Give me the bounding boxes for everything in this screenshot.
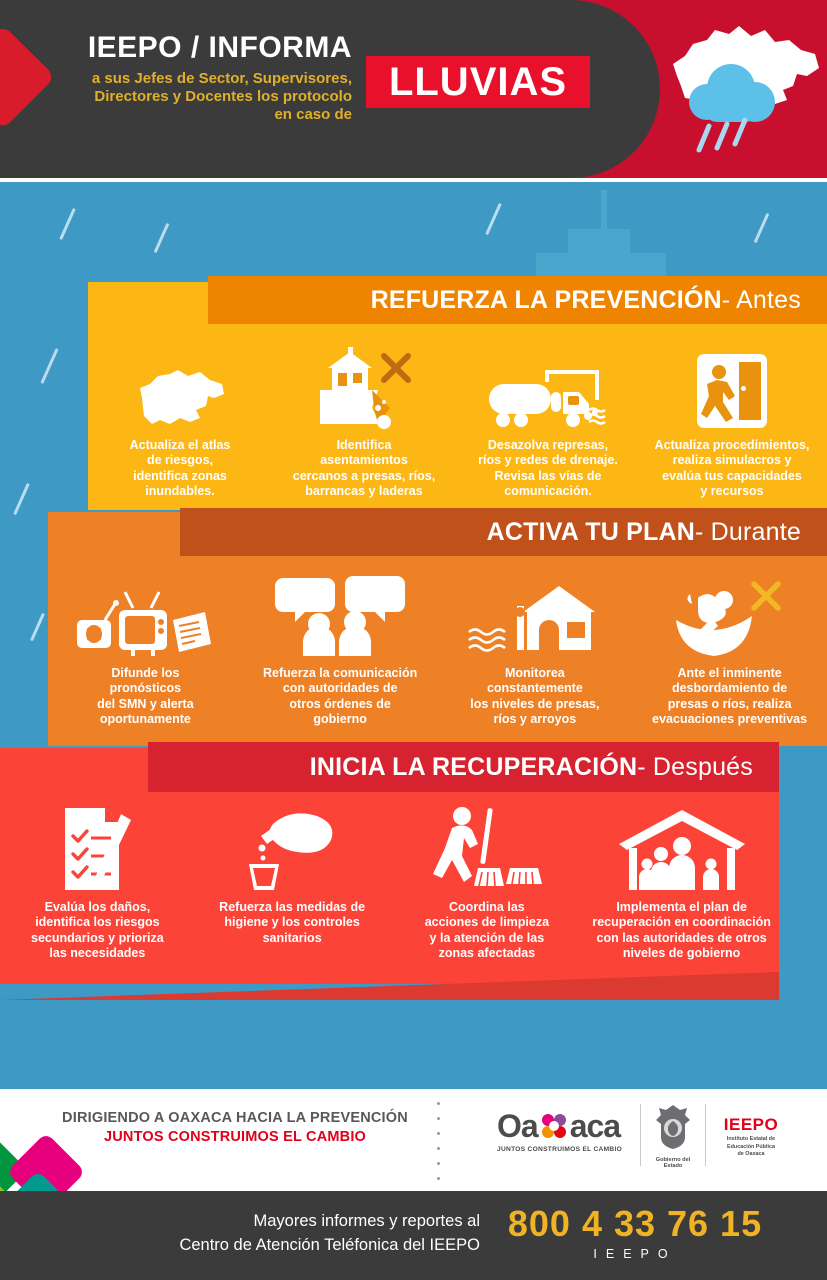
footer-contact-text: Mayores informes y reportes al Centro de… — [150, 1210, 480, 1258]
house-on-cliff-crossed-out-icon — [278, 344, 450, 430]
building-tower-decoration — [601, 190, 607, 230]
brand-subtitle: a sus Jefes de Sector, Supervisores, Dir… — [62, 70, 352, 125]
card-durante-1: Difunde los pronósticos del SMN y alerta… — [48, 572, 243, 727]
escudo-caption: Gobierno del Estado — [650, 1157, 696, 1169]
section-subtitle-antes: - Antes — [722, 286, 801, 315]
brand-title: IEEPO / INFORMA — [62, 32, 352, 64]
raindrop — [754, 213, 770, 243]
card-caption: Implementa el plan de recuperación en co… — [590, 900, 773, 961]
ieepo-wordmark: IEEPO — [712, 1116, 790, 1133]
card-despues-4: Implementa el plan de recuperación en co… — [584, 806, 779, 961]
oaxaca-map-icon — [94, 344, 266, 430]
card-caption: Refuerza las medidas de higiene y los co… — [201, 900, 384, 946]
section-header-despues: INICIA LA RECUPERACIÓN - Después — [148, 742, 779, 792]
header-banner: IEEPO / INFORMA a sus Jefes de Sector, S… — [0, 0, 827, 178]
card-despues-1: Evalúa los daños, identifica los riesgos… — [0, 806, 195, 961]
tanker-truck-drainage-icon — [462, 344, 634, 430]
footer-phone-number[interactable]: 800 4 33 76 15 — [500, 1206, 770, 1242]
logo-divider-left — [640, 1104, 641, 1166]
footer-contact-line-1: Mayores informes y reportes al — [150, 1210, 480, 1234]
card-caption: Monitorea constantemente los niveles de … — [444, 666, 627, 727]
oaxaca-word-part-2: aca — [570, 1110, 620, 1142]
card-durante-4: Ante el inminente desbordamiento de pres… — [632, 572, 827, 727]
emergency-exit-drill-icon — [646, 344, 818, 430]
raindrop — [40, 348, 58, 384]
brand-subtitle-line-3: en caso de — [62, 106, 352, 124]
oaxaca-x-petals-icon — [539, 1111, 569, 1141]
family-under-roof-icon — [590, 806, 773, 892]
oaxaca-word-part-1: Oa — [497, 1110, 538, 1142]
raindrop — [13, 483, 30, 515]
section-header-durante: ACTIVA TU PLAN - Durante — [180, 508, 827, 556]
brand-block: IEEPO / INFORMA a sus Jefes de Sector, S… — [62, 32, 352, 124]
section-title-durante: ACTIVA TU PLAN — [487, 518, 695, 547]
ieepo-logo-subtitle: Instituto Estatal de Educación Pública d… — [712, 1136, 790, 1159]
raindrop — [59, 208, 76, 240]
lluvias-badge: LLUVIAS — [366, 56, 590, 108]
card-despues-2: Refuerza las medidas de higiene y los co… — [195, 806, 390, 946]
cards-antes: Actualiza el atlas de riesgos, identific… — [88, 344, 827, 514]
raindrop — [154, 223, 170, 253]
house-with-rising-water-icon — [444, 572, 627, 658]
card-antes-3: Desazolva represas, ríos y redes de dren… — [456, 344, 640, 499]
footer-phone-mnemonic: IEEPO — [500, 1247, 770, 1261]
card-caption: Ante el inminente desbordamiento de pres… — [638, 666, 821, 727]
card-antes-2: Identifica asentamientos cercanos a pres… — [272, 344, 456, 499]
card-caption: Actualiza el atlas de riesgos, identific… — [94, 438, 266, 499]
two-people-talking-icon — [249, 572, 432, 658]
card-caption: Actualiza procedimientos, realiza simula… — [646, 438, 818, 499]
ieepo-logo: IEEPO Instituto Estatal de Educación Púb… — [712, 1116, 790, 1159]
card-caption: Refuerza la comunicación con autoridades… — [249, 666, 432, 727]
person-swept-by-flood-crossed-out-icon — [638, 572, 821, 658]
slogan-block: DIRIGIENDO A OAXACA HACIA LA PREVENCIÓN … — [50, 1110, 420, 1145]
card-caption: Evalúa los daños, identifica los riesgos… — [6, 900, 189, 961]
card-caption: Coordina las acciones de limpieza y la a… — [396, 900, 579, 961]
water-purification-drops-icon — [201, 806, 384, 892]
gobierno-del-estado-logo: Gobierno del Estado — [650, 1104, 696, 1169]
section-title-despues: INICIA LA RECUPERACIÓN — [310, 753, 638, 782]
infographic-page: IEEPO / INFORMA a sus Jefes de Sector, S… — [0, 0, 827, 1280]
person-sweeping-icon — [396, 806, 579, 892]
escudo-oaxaca-icon — [653, 1104, 693, 1150]
card-despues-3: Coordina las acciones de limpieza y la a… — [390, 806, 585, 961]
oaxaca-map-with-rain-cloud-icon — [655, 16, 827, 166]
card-durante-2: Refuerza la comunicación con autoridades… — [243, 572, 438, 727]
cards-durante: Difunde los pronósticos del SMN y alerta… — [48, 572, 827, 747]
card-antes-4: Actualiza procedimientos, realiza simula… — [640, 344, 824, 499]
cards-despues: Evalúa los daños, identifica los riesgos… — [0, 806, 779, 986]
oaxaca-logo: Oa aca JUNTOS CONSTRUIMOS EL CAMBIO — [497, 1110, 622, 1153]
dotted-separator — [437, 1102, 441, 1176]
card-antes-1: Actualiza el atlas de riesgos, identific… — [88, 344, 272, 499]
section-subtitle-durante: - Durante — [695, 518, 801, 547]
footer-contact-line-2: Centro de Atención Teléfonica del IEEPO — [150, 1234, 480, 1258]
raindrop — [30, 613, 45, 642]
brand-subtitle-line-2: Directores y Docentes los protocolo — [62, 88, 352, 106]
card-durante-3: Monitorea constantemente los niveles de … — [438, 572, 633, 727]
section-title-antes: REFUERZA LA PREVENCIÓN — [371, 286, 722, 315]
lluvias-badge-label: LLUVIAS — [389, 62, 567, 102]
oaxaca-wordmark: Oa aca — [497, 1110, 622, 1142]
checklist-with-pencil-icon — [6, 806, 189, 892]
section-header-antes: REFUERZA LA PREVENCIÓN - Antes — [208, 276, 827, 324]
oaxaca-logo-tagline: JUNTOS CONSTRUIMOS EL CAMBIO — [497, 1146, 622, 1153]
card-caption: Identifica asentamientos cercanos a pres… — [278, 438, 450, 499]
brand-subtitle-line-1: a sus Jefes de Sector, Supervisores, — [62, 70, 352, 88]
card-caption: Desazolva represas, ríos y redes de dren… — [462, 438, 634, 499]
rain-streaks — [699, 120, 745, 150]
footer-phone-block[interactable]: 800 4 33 76 15 IEEPO — [500, 1206, 770, 1261]
card-caption: Difunde los pronósticos del SMN y alerta… — [54, 666, 237, 727]
section-subtitle-despues: - Después — [637, 753, 753, 782]
radio-tv-newspaper-icon — [54, 572, 237, 658]
raindrop — [485, 203, 502, 235]
logo-divider-right — [705, 1104, 706, 1166]
slogan-line-1: DIRIGIENDO A OAXACA HACIA LA PREVENCIÓN — [50, 1110, 420, 1126]
